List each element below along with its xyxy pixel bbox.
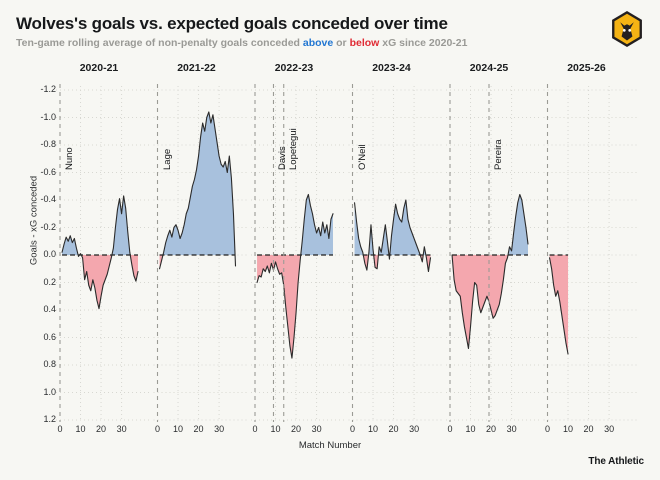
x-tick-label: 10 bbox=[558, 424, 578, 434]
source-credit: The Athletic bbox=[588, 456, 644, 467]
x-tick-label: 20 bbox=[91, 424, 111, 434]
x-tick-label: 0 bbox=[343, 424, 363, 434]
manager-label-Lage: Lage bbox=[162, 149, 173, 170]
plot-area bbox=[0, 0, 660, 480]
area-below-xg bbox=[160, 255, 236, 269]
x-axis-title: Match Number bbox=[0, 440, 660, 451]
x-tick-label: 30 bbox=[599, 424, 619, 434]
area-above-xg bbox=[452, 195, 528, 256]
x-tick-label: 0 bbox=[50, 424, 70, 434]
x-tick-label: 20 bbox=[579, 424, 599, 434]
x-tick-label: 30 bbox=[209, 424, 229, 434]
x-tick-label: 0 bbox=[245, 424, 265, 434]
x-tick-label: 30 bbox=[502, 424, 522, 434]
x-tick-label: 10 bbox=[266, 424, 286, 434]
x-tick-label: 20 bbox=[286, 424, 306, 434]
x-tick-label: 30 bbox=[112, 424, 132, 434]
x-tick-label: 20 bbox=[384, 424, 404, 434]
area-above-xg bbox=[163, 112, 235, 255]
manager-label-Nuno: Nuno bbox=[64, 147, 75, 170]
area-below-xg bbox=[78, 255, 138, 309]
manager-label-Lopetegui: Lopetegui bbox=[288, 128, 299, 170]
chart-root: Wolves's goals vs. expected goals conced… bbox=[0, 0, 660, 480]
manager-label-Davis: Davis bbox=[277, 146, 288, 170]
x-tick-label: 20 bbox=[481, 424, 501, 434]
area-below-xg bbox=[257, 255, 301, 358]
x-tick-label: 10 bbox=[71, 424, 91, 434]
x-tick-label: 10 bbox=[363, 424, 383, 434]
x-tick-label: 30 bbox=[307, 424, 327, 434]
x-tick-label: 0 bbox=[148, 424, 168, 434]
x-tick-label: 10 bbox=[461, 424, 481, 434]
x-tick-label: 30 bbox=[404, 424, 424, 434]
x-tick-label: 20 bbox=[189, 424, 209, 434]
x-tick-label: 0 bbox=[440, 424, 460, 434]
manager-label-Pereira: Pereira bbox=[493, 139, 504, 170]
x-tick-label: 0 bbox=[538, 424, 558, 434]
manager-label-O'Neil: O'Neil bbox=[357, 144, 368, 170]
x-tick-label: 10 bbox=[168, 424, 188, 434]
